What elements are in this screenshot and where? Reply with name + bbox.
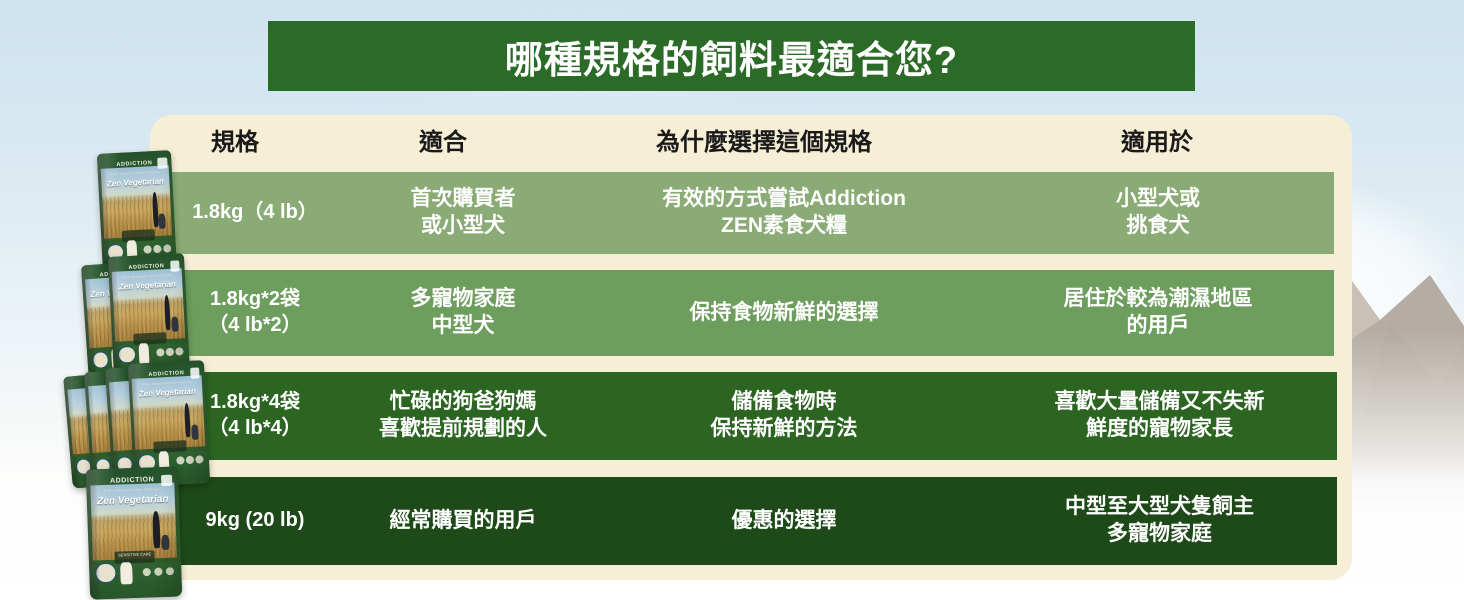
cell-why-choose: 保持食物新鮮的選擇 [586, 270, 982, 356]
table-row[interactable]: 9kg (20 lb) 經常購買的用戶 優惠的選擇 中型至大型犬隻飼主 多寵物家… [170, 477, 1337, 565]
column-header-suitable: 適合 [320, 120, 566, 166]
cell-why-choose: 有效的方式嘗試Addiction ZEN素食犬糧 [586, 172, 982, 254]
cell-applies-to: 居住於較為潮濕地區 的用戶 [982, 270, 1334, 356]
cell-suitable-for: 忙碌的狗爸狗媽 喜歡提前規劃的人 [340, 372, 586, 460]
table-header-row: 規格 適合 為什麼選擇這個規格 適用於 [150, 120, 1352, 166]
cell-applies-to: 喜歡大量儲備又不失新 鮮度的寵物家長 [982, 372, 1337, 460]
cell-applies-to: 小型犬或 挑食犬 [982, 172, 1334, 254]
table-row[interactable]: 1.8kg*4袋 （4 lb*4） 忙碌的狗爸狗媽 喜歡提前規劃的人 儲備食物時… [156, 372, 1337, 460]
product-image-row-4: ADDICTION Plant-Based Protein Nutrition … [88, 468, 218, 600]
cell-suitable-for: 多寵物家庭 中型犬 [340, 270, 586, 356]
table-row[interactable]: 1.8kg（4 lb） 首次購買者 或小型犬 有效的方式嘗試Addiction … [170, 172, 1334, 254]
product-bag: ADDICTION Plant-Based Protein Nutrition … [86, 466, 182, 599]
cell-suitable-for: 經常購買的用戶 [340, 477, 586, 565]
cell-why-choose: 優惠的選擇 [586, 477, 982, 565]
column-header-why-choose: 為什麼選擇這個規格 [566, 120, 962, 166]
cell-applies-to: 中型至大型犬隻飼主 多寵物家庭 [982, 477, 1337, 565]
page-title: 哪種規格的飼料最適合您? [505, 29, 958, 84]
page-title-banner: 哪種規格的飼料最適合您? [268, 21, 1195, 91]
bag-gloss-highlight [86, 466, 182, 599]
product-bag: ADDICTION Plant-Based Protein Nutrition … [108, 253, 190, 379]
cell-why-choose: 儲備食物時 保持新鮮的方法 [586, 372, 982, 460]
column-header-applies-to: 適用於 [962, 120, 1352, 166]
cell-suitable-for: 首次購買者 或小型犬 [340, 172, 586, 254]
table-row[interactable]: 1.8kg*2袋 （4 lb*2） 多寵物家庭 中型犬 保持食物新鮮的選擇 居住… [166, 270, 1334, 356]
bag-gloss-highlight [108, 253, 190, 379]
